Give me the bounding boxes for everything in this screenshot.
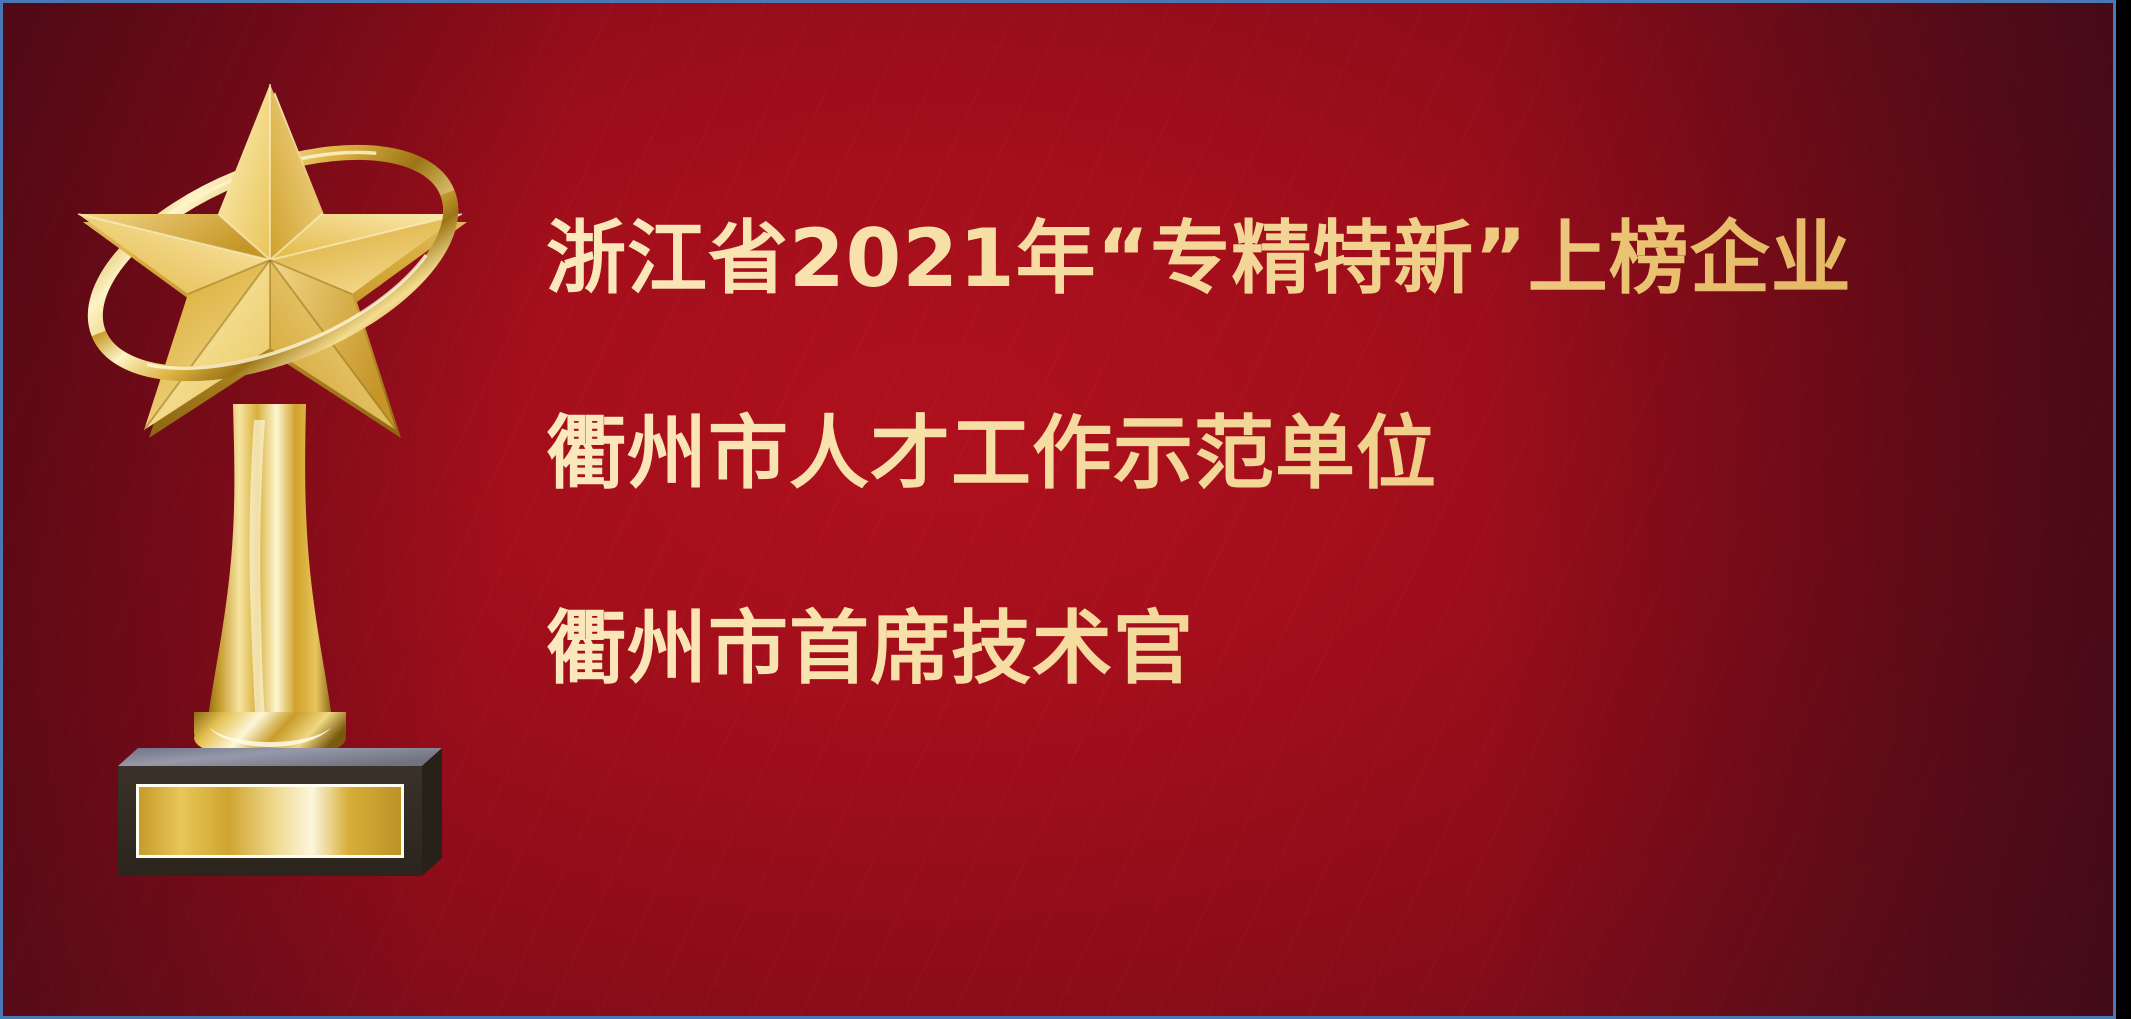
trophy-nameplate	[139, 787, 401, 855]
trophy-stem	[206, 404, 334, 738]
headline-group: 浙江省2021年“专精特新”上榜企业 衢州市人才工作示范单位 衢州市首席技术官	[546, 209, 2046, 699]
headline-line-3: 衢州市首席技术官	[546, 599, 2046, 699]
gold-star	[78, 84, 467, 438]
gold-star-trophy-image	[58, 48, 478, 648]
headline-line-2: 衢州市人才工作示范单位	[546, 404, 2046, 504]
headline-line-1: 浙江省2021年“专精特新”上榜企业	[546, 209, 2046, 309]
trophy-base	[118, 748, 442, 876]
award-banner: 浙江省2021年“专精特新”上榜企业 衢州市人才工作示范单位 衢州市首席技术官	[0, 0, 2116, 1019]
